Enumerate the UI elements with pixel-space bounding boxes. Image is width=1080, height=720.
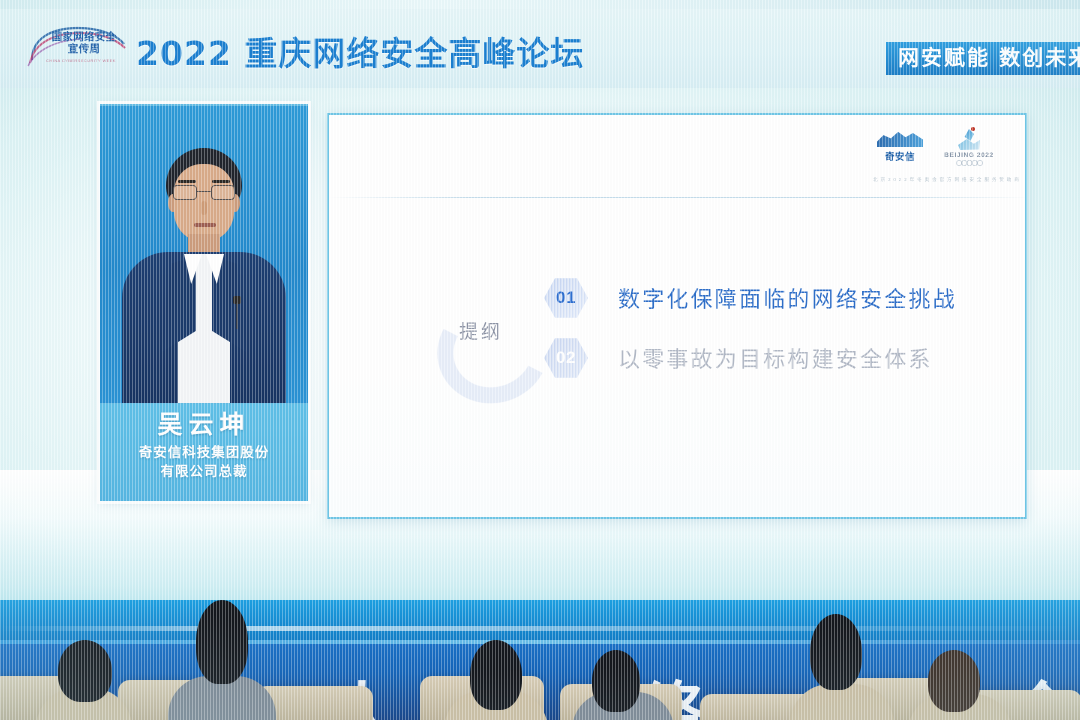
speaker-title-line-2: 有限公司总裁 bbox=[108, 462, 300, 481]
slide-logo-sub-caption: 北 京 2 0 2 2 年 冬 奥 会 官 方 网 络 安 全 服 务 赞 助 … bbox=[873, 177, 1001, 183]
header-top-strip bbox=[0, 0, 1080, 9]
audience-head bbox=[928, 650, 980, 712]
presentation-slide: 奇安信 BEIJING 2022 OOOOO 北 京 2 0 2 2 年 冬 奥… bbox=[327, 113, 1027, 519]
olympic-rings-icon: OOOOO bbox=[937, 159, 1001, 168]
slide-divider bbox=[329, 197, 1027, 198]
logo-text-line-1: 国家网络安全 bbox=[40, 32, 128, 43]
beijing-2022-logo-text: BEIJING 2022 bbox=[937, 152, 1001, 159]
banner-top-line bbox=[0, 640, 1080, 644]
audience-head bbox=[470, 640, 522, 710]
national-cybersecurity-week-logo: 国家网络安全 宣传周 CHINA CYBERSECURITY WEEK bbox=[26, 24, 130, 68]
audience-head bbox=[810, 614, 862, 690]
outline-item-01[interactable]: 01 数字化保障面临的网络安全挑战 bbox=[544, 277, 957, 319]
hex-badge-icon: 02 bbox=[544, 337, 588, 379]
beijing-2022-mark-icon bbox=[956, 129, 982, 151]
speaker-name-caption: 吴云坤 奇安信科技集团股份 有限公司总裁 bbox=[100, 404, 308, 501]
glasses-icon bbox=[173, 185, 235, 200]
outline-item-number: 02 bbox=[556, 348, 576, 368]
hex-badge-icon: 01 bbox=[544, 277, 588, 319]
speaker-title-line-1: 奇安信科技集团股份 bbox=[108, 443, 300, 462]
speaker-video-feed bbox=[100, 106, 308, 403]
audience-head bbox=[592, 650, 640, 712]
outline-item-02[interactable]: 02 以零事故为目标构建安全体系 bbox=[544, 337, 933, 379]
speaker-title: 奇安信科技集团股份 有限公司总裁 bbox=[100, 441, 308, 481]
speaker-mouth bbox=[194, 223, 216, 227]
audience-head bbox=[196, 600, 248, 684]
speaker-name: 吴云坤 bbox=[100, 409, 308, 441]
conference-hall-screen: 人 络 全 bbox=[0, 0, 1080, 720]
beijing-2022-logo: BEIJING 2022 OOOOO bbox=[937, 129, 1001, 168]
microphone-wire bbox=[236, 303, 238, 329]
outline-item-label: 以零事故为目标构建安全体系 bbox=[618, 342, 933, 374]
event-header-banner: 国家网络安全 宣传周 CHINA CYBERSECURITY WEEK 2022… bbox=[0, 0, 1080, 88]
logo-text-line-2: 宣传周 bbox=[40, 44, 128, 55]
qianxin-logo-text: 奇安信 bbox=[871, 149, 929, 163]
event-title: 2022 重庆网络安全高峰论坛 bbox=[136, 27, 584, 75]
speaker-nose bbox=[201, 201, 207, 215]
decorative-arc bbox=[424, 284, 563, 418]
outline-item-label: 数字化保障面临的网络安全挑战 bbox=[618, 282, 957, 314]
outline-item-number: 01 bbox=[556, 288, 576, 308]
event-slogan: 网安赋能 数创未来 bbox=[898, 46, 1080, 70]
speaker-video-panel: 吴云坤 奇安信科技集团股份 有限公司总裁 bbox=[100, 104, 308, 501]
slide-logo-group: 奇安信 BEIJING 2022 OOOOO bbox=[871, 129, 1003, 195]
speaker-eyebrow-right bbox=[212, 180, 230, 183]
event-slogan-box: 网安赋能 数创未来 bbox=[886, 42, 1080, 75]
stage-blue-band-highlight bbox=[0, 626, 1080, 631]
logo-text-subline: CHINA CYBERSECURITY WEEK bbox=[34, 58, 128, 63]
speaker-eyebrow-left bbox=[178, 180, 196, 183]
audience-head bbox=[58, 640, 112, 702]
qianxin-logo: 奇安信 bbox=[871, 129, 929, 163]
qianxin-mark-icon bbox=[877, 129, 923, 147]
